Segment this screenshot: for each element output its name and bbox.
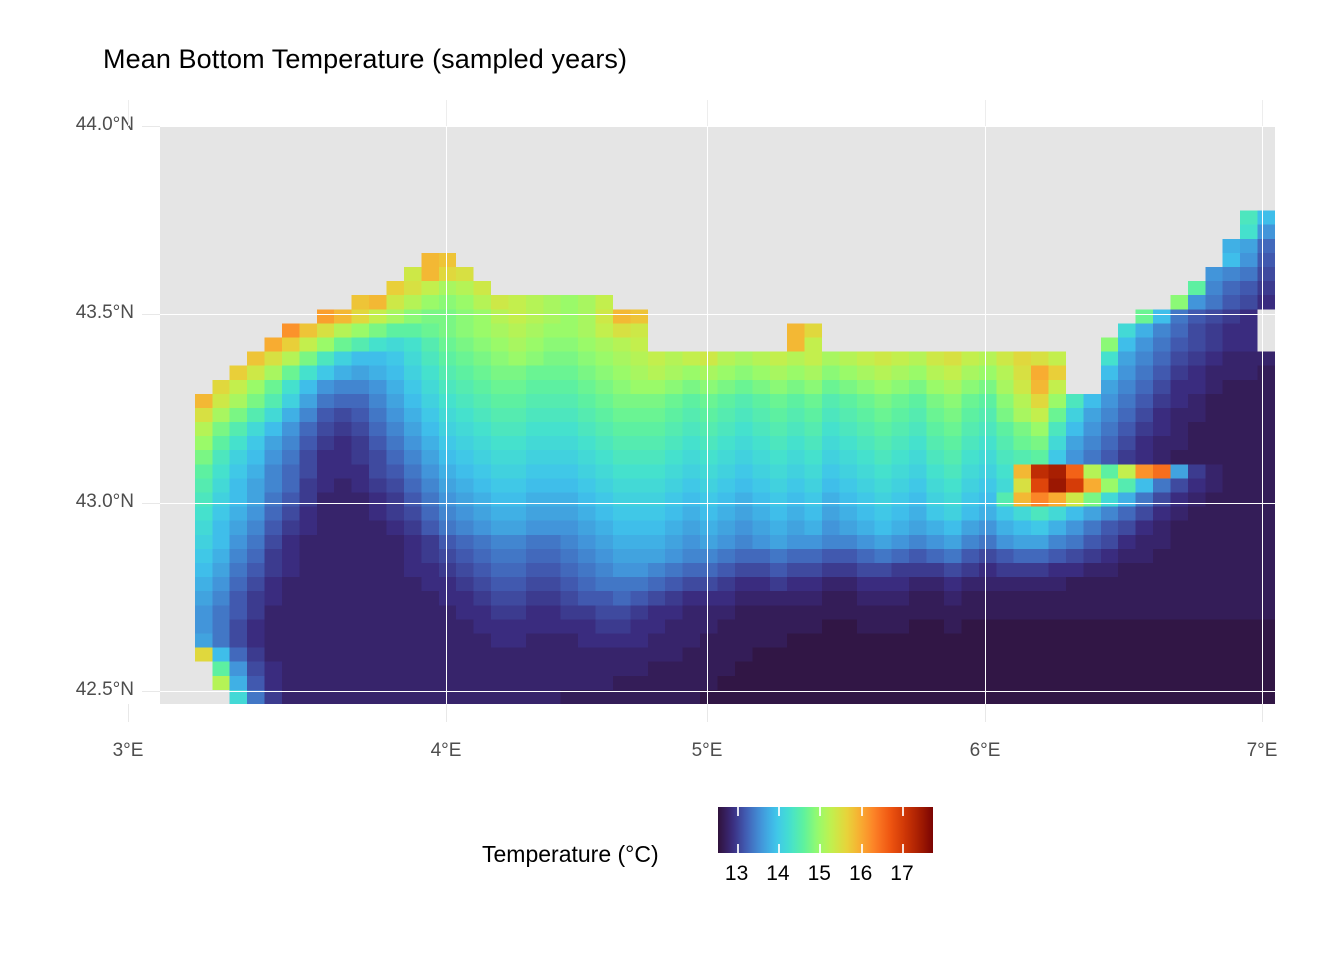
legend-tick-mark-top-1: [778, 807, 780, 816]
legend-tick-label: 14: [766, 862, 789, 886]
legend-tick-mark-bottom-1: [778, 844, 780, 853]
legend-title: Temperature (°C): [482, 841, 659, 868]
legend-tick-label: 15: [808, 862, 831, 886]
legend-tick-label: 13: [725, 862, 748, 886]
legend-tick-label: 16: [849, 862, 872, 886]
legend-tick-mark-bottom-0: [737, 844, 739, 853]
legend-tick-mark-bottom-3: [861, 844, 863, 853]
legend-tick-mark-top-2: [819, 807, 821, 816]
legend-tick-mark-bottom-2: [819, 844, 821, 853]
legend: Temperature (°C) 1314151617: [0, 0, 1344, 960]
legend-gradient: [718, 807, 933, 853]
legend-tick-mark-top-0: [737, 807, 739, 816]
legend-tick-label: 17: [890, 862, 913, 886]
legend-colorbar[interactable]: [718, 807, 933, 853]
legend-tick-mark-bottom-4: [902, 844, 904, 853]
figure-root: Mean Bottom Temperature (sampled years) …: [0, 0, 1344, 960]
legend-tick-mark-top-3: [861, 807, 863, 816]
legend-tick-mark-top-4: [902, 807, 904, 816]
